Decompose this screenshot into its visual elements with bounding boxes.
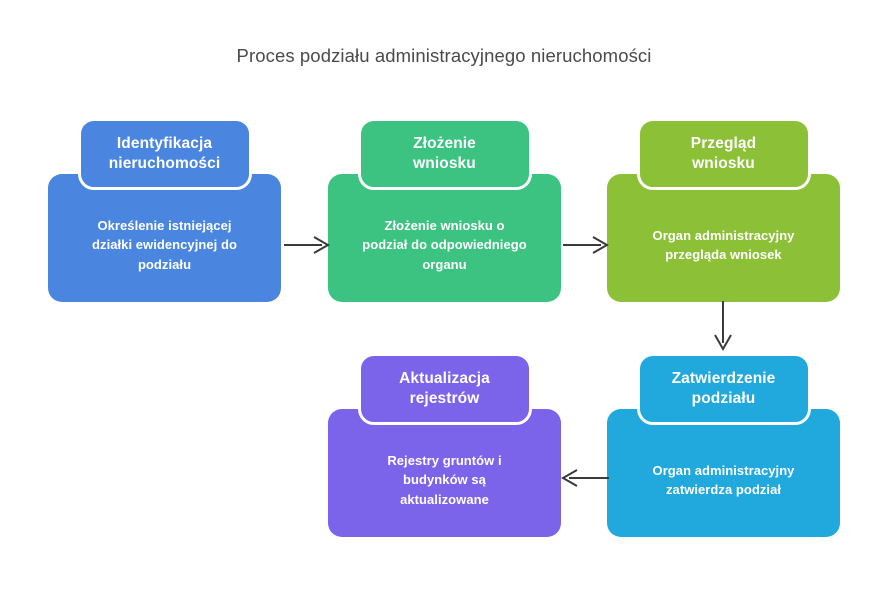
flow-node-header-step-3[interactable]: Przegląd wniosku xyxy=(637,118,811,190)
flow-node-header-text-step-5: Aktualizacja rejestrów xyxy=(361,369,529,409)
arrow-down-icon-step3-to-step4 xyxy=(709,301,737,351)
arrow-left-icon-step4-to-step5 xyxy=(561,464,609,492)
flow-node-body-text-step-5: Rejestry gruntów i budynków są aktualizo… xyxy=(350,451,539,509)
flow-node-header-text-step-1: Identyfikacja nieruchomości xyxy=(81,134,249,174)
flow-node-header-text-step-3: Przegląd wniosku xyxy=(640,134,808,174)
arrow-right-icon-step2-to-step3 xyxy=(563,231,609,259)
flow-node-header-text-step-4: Zatwierdzenie podziału xyxy=(640,369,808,409)
page-title: Proces podziału administracyjnego nieruc… xyxy=(0,45,888,67)
flow-node-body-text-step-4: Organ administracyjny zatwierdza podział xyxy=(629,461,818,499)
flow-node-body-step-1: Określenie istniejącej działki ewidencyj… xyxy=(48,174,281,302)
flowchart-canvas: Proces podziału administracyjnego nieruc… xyxy=(0,0,888,612)
flow-node-header-step-1[interactable]: Identyfikacja nieruchomości xyxy=(78,118,252,190)
flow-node-header-step-4[interactable]: Zatwierdzenie podziału xyxy=(637,353,811,425)
flow-node-body-step-4: Organ administracyjny zatwierdza podział xyxy=(607,409,840,537)
flow-node-body-text-step-2: Złożenie wniosku o podział do odpowiedni… xyxy=(350,216,539,274)
flow-node-body-step-3: Organ administracyjny przegląda wniosek xyxy=(607,174,840,302)
flow-node-body-step-5: Rejestry gruntów i budynków są aktualizo… xyxy=(328,409,561,537)
flow-node-body-text-step-1: Określenie istniejącej działki ewidencyj… xyxy=(70,216,259,274)
flow-node-body-text-step-3: Organ administracyjny przegląda wniosek xyxy=(629,226,818,264)
arrow-right-icon-step1-to-step2 xyxy=(284,231,330,259)
flow-node-header-step-2[interactable]: Złożenie wniosku xyxy=(358,118,532,190)
flow-node-header-text-step-2: Złożenie wniosku xyxy=(361,134,529,174)
flow-node-header-step-5[interactable]: Aktualizacja rejestrów xyxy=(358,353,532,425)
flow-node-body-step-2: Złożenie wniosku o podział do odpowiedni… xyxy=(328,174,561,302)
